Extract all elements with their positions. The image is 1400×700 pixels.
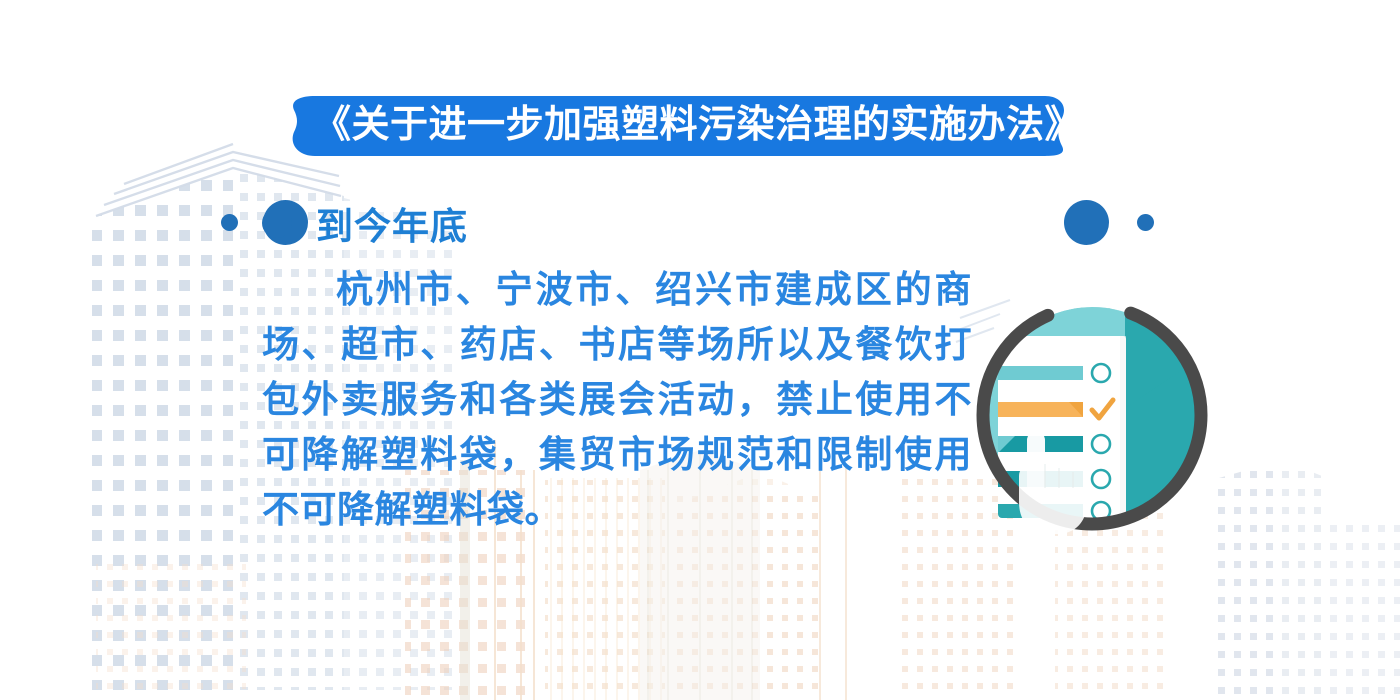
bullet-dot-icon bbox=[262, 208, 292, 238]
title-row: 《关于进一步加强塑料污染治理的实施办法》 bbox=[0, 96, 1400, 160]
poster-canvas: 《关于进一步加强塑料污染治理的实施办法》 到今年底 杭州市、宁波市、绍兴市建成区… bbox=[0, 0, 1400, 700]
section-heading-label: 到今年底 bbox=[316, 196, 468, 250]
checklist-in-circle-illustration bbox=[965, 288, 1220, 543]
bg-building-far-right bbox=[1330, 520, 1400, 700]
bg-dot-cluster-left bbox=[96, 560, 246, 700]
page-title: 《关于进一步加强塑料污染治理的实施办法》 bbox=[313, 96, 1083, 156]
title-decor-dot-small-right bbox=[1137, 214, 1154, 231]
section-heading: 到今年底 bbox=[262, 196, 468, 250]
section-paragraph: 杭州市、宁波市、绍兴市建成区的商场、超市、药店、书店等场所以及餐饮打包外卖服务和… bbox=[262, 262, 972, 537]
title-decor-dot-small-left bbox=[221, 214, 238, 231]
title-banner: 《关于进一步加强塑料污染治理的实施办法》 bbox=[285, 96, 1075, 156]
title-decor-dot-large-right bbox=[1064, 200, 1109, 245]
bg-building-right-tower bbox=[1212, 460, 1322, 700]
